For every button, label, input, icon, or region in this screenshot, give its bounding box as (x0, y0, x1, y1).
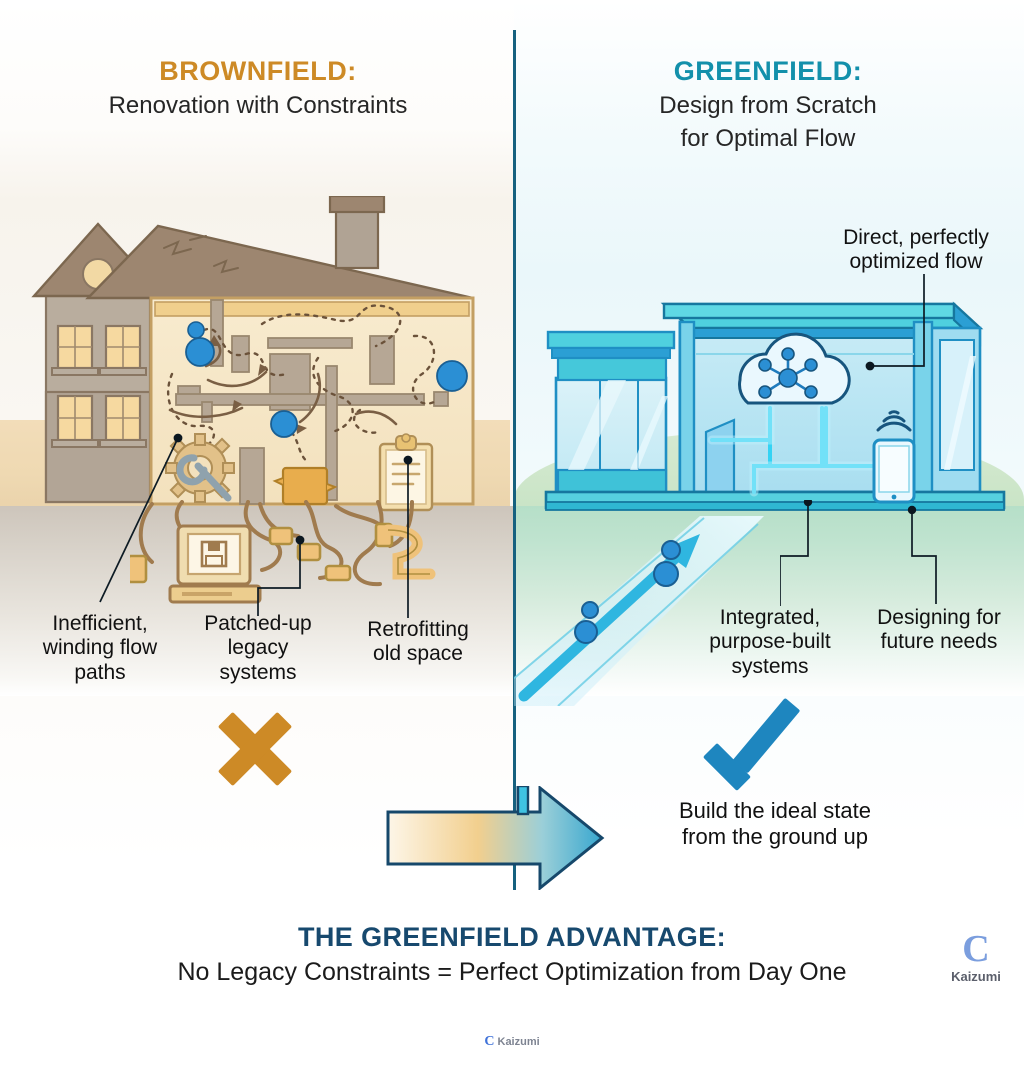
greenfield-subtitle-line2: for Optimal Flow (530, 123, 1006, 154)
arrow-caption: Build the ideal state from the ground up (650, 798, 900, 849)
callout-direct-flow: Direct, perfectly optimized flow (812, 226, 1020, 275)
greenfield-header: GREENFIELD: Design from Scratch for Opti… (530, 56, 1006, 154)
callout-inefficient-paths: Inefficient, winding flow paths (10, 612, 190, 685)
banner-headline: THE GREENFIELD ADVANTAGE: (0, 922, 1024, 953)
kaizumi-logo-text: Kaizumi (944, 969, 1008, 984)
callout-integrated-systems: Integrated, purpose-built systems (690, 606, 850, 679)
brownfield-leader-lines (60, 432, 480, 618)
greenfield-kicker: GREENFIELD: (530, 56, 1006, 88)
x-mark-icon (212, 706, 298, 792)
callout-future-needs: Designing for future needs (858, 606, 1020, 655)
bottom-banner: THE GREENFIELD ADVANTAGE: No Legacy Cons… (0, 910, 1024, 1020)
banner-subline: No Legacy Constraints = Perfect Optimiza… (0, 958, 1024, 987)
kaizumi-logo: C Kaizumi (944, 930, 1008, 984)
tablet-icon (874, 440, 914, 502)
greenfield-leader-lines (780, 500, 1020, 620)
panel-divider (513, 30, 516, 890)
footer-watermark: C Kaizumi (0, 1034, 1024, 1050)
callout-legacy-systems: Patched-up legacy systems (178, 612, 338, 685)
direct-flow-leader-line (860, 274, 950, 394)
infographic-canvas: BROWNFIELD: Renovation with Constraints … (0, 0, 1024, 1074)
kaizumi-logo-mark: C (944, 930, 1008, 968)
footer-logo-mark: C (484, 1034, 494, 1049)
check-mark-icon (706, 700, 802, 786)
transition-arrow (352, 786, 652, 890)
footer-logo-text: Kaizumi (498, 1036, 540, 1048)
brownfield-subtitle: Renovation with Constraints (20, 90, 496, 121)
brownfield-kicker: BROWNFIELD: (20, 56, 496, 88)
brownfield-header: BROWNFIELD: Renovation with Constraints (20, 56, 496, 121)
greenfield-subtitle-line1: Design from Scratch (530, 90, 1006, 121)
callout-retrofitting: Retrofitting old space (338, 618, 498, 667)
